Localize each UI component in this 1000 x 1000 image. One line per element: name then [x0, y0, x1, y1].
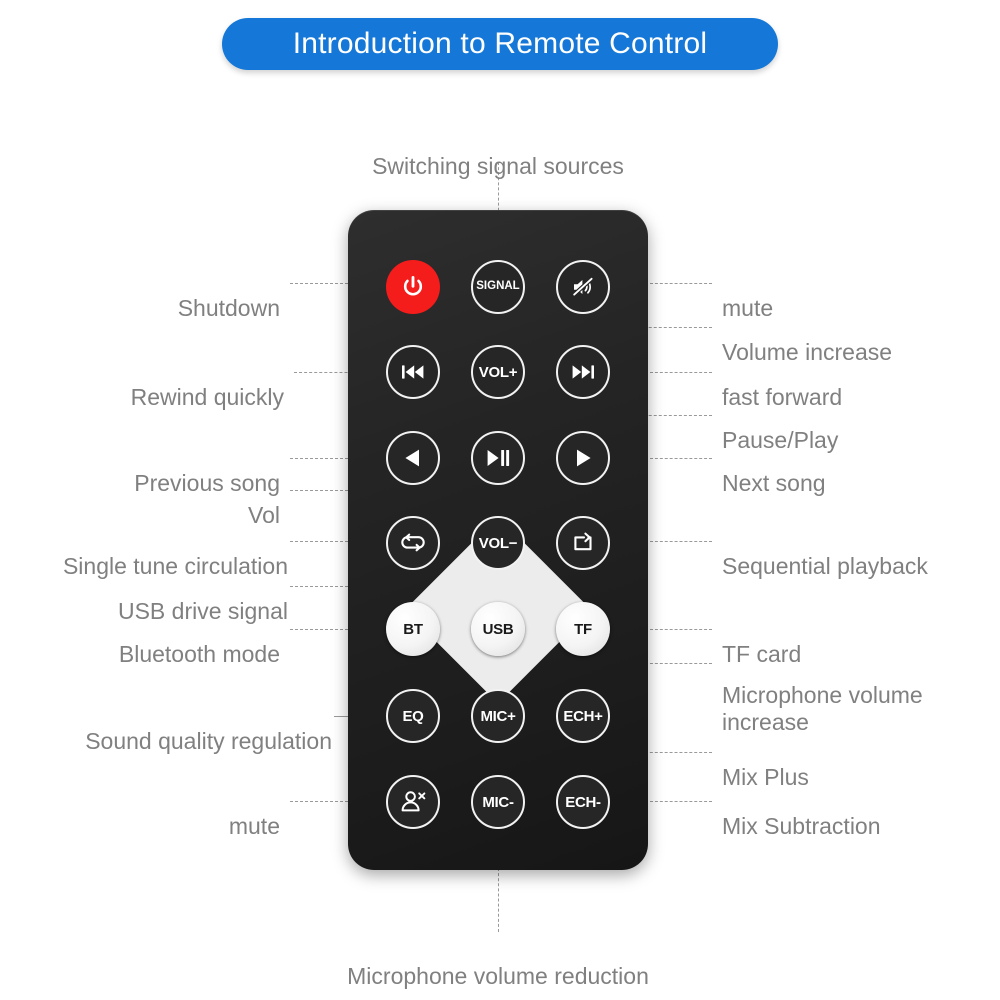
callout-text: Shutdown	[178, 295, 280, 321]
play-pause-button[interactable]	[471, 431, 525, 485]
callout-next-song: Next song	[722, 443, 998, 497]
callout-sound-quality-regulation: Sound quality regulation	[0, 701, 332, 755]
callout-text: Microphone volume reduction	[347, 963, 649, 989]
callout-microphone-volume-reduction: Microphone volume reduction	[288, 936, 708, 990]
bluetooth-mode-button[interactable]: BT	[386, 602, 440, 656]
volume-up-button[interactable]: VOL+	[471, 345, 525, 399]
page-title: Introduction to Remote Control	[293, 27, 708, 61]
callout-vol: Vol	[0, 475, 280, 529]
play-pause-icon	[485, 448, 511, 468]
callout-text: Microphone volume increase	[722, 682, 923, 735]
fast-forward-icon	[570, 363, 596, 381]
callout-mix-plus: Mix Plus	[722, 737, 998, 791]
page-title-banner: Introduction to Remote Control	[222, 18, 778, 70]
mic-down-label: MIC-	[482, 795, 513, 810]
mic-up-button[interactable]: MIC+	[471, 689, 525, 743]
callout-text: Next song	[722, 470, 826, 496]
echo-down-label: ECH-	[565, 795, 600, 810]
mic-down-button[interactable]: MIC-	[471, 775, 525, 829]
next-song-button[interactable]	[556, 431, 610, 485]
echo-up-button[interactable]: ECH+	[556, 689, 610, 743]
loop-repeat-icon	[399, 532, 427, 554]
person-mute-icon	[399, 789, 427, 815]
leader-line-next-song	[650, 458, 712, 459]
callout-microphone-volume-increase: Microphone volume increase	[722, 655, 984, 736]
callout-mix-subtraction: Mix Subtraction	[722, 786, 998, 840]
echo-up-label: ECH+	[563, 709, 602, 724]
callout-switching-signal-sources: Switching signal sources	[298, 126, 698, 180]
callout-shutdown: Shutdown	[0, 268, 280, 322]
rewind-icon	[400, 363, 426, 381]
sequential-playback-button[interactable]	[556, 516, 610, 570]
leader-line-mute	[650, 283, 712, 284]
callout-text: Rewind quickly	[131, 384, 284, 410]
leader-line-sequential-playback	[650, 541, 712, 542]
callout-text: Switching signal sources	[372, 153, 624, 179]
single-tune-circulation-button[interactable]	[386, 516, 440, 570]
fast-forward-button[interactable]	[556, 345, 610, 399]
volume-down-button[interactable]: VOL−	[471, 516, 525, 570]
speaker-mute-icon	[569, 273, 597, 301]
mic-mute-button[interactable]	[386, 775, 440, 829]
mic-up-label: MIC+	[480, 709, 515, 724]
callout-text: Sound quality regulation	[85, 728, 332, 754]
bt-button-label: BT	[403, 622, 422, 637]
tf-card-button[interactable]: TF	[556, 602, 610, 656]
callout-text: Bluetooth mode	[119, 641, 280, 667]
next-track-icon	[572, 447, 594, 469]
previous-song-button[interactable]	[386, 431, 440, 485]
leader-line-mix-plus	[640, 752, 712, 753]
callout-rewind-quickly: Rewind quickly	[0, 357, 284, 411]
callout-text: Mix Subtraction	[722, 813, 881, 839]
rewind-button[interactable]	[386, 345, 440, 399]
power-icon	[400, 274, 426, 300]
callout-sequential-playback: Sequential playback	[722, 526, 1000, 580]
callout-text: mute	[229, 813, 280, 839]
leader-line-tf-card	[650, 629, 712, 630]
power-button[interactable]	[386, 260, 440, 314]
usb-button[interactable]: USB	[471, 602, 525, 656]
signal-button[interactable]: SIGNAL	[471, 260, 525, 314]
eq-button[interactable]: EQ	[386, 689, 440, 743]
tf-button-label: TF	[574, 622, 592, 637]
callout-text: Vol	[248, 502, 280, 528]
usb-button-label: USB	[483, 622, 514, 637]
sequential-play-icon	[570, 531, 596, 555]
eq-button-label: EQ	[402, 709, 423, 724]
signal-button-label: SIGNAL	[476, 281, 519, 293]
leader-line-fast-forward	[650, 372, 712, 373]
remote-control-device: SIGNAL VOL+	[348, 210, 648, 870]
previous-track-icon	[402, 447, 424, 469]
echo-down-button[interactable]: ECH-	[556, 775, 610, 829]
callout-text: Sequential playback	[722, 553, 928, 579]
mute-button[interactable]	[556, 260, 610, 314]
callout-bluetooth-mode: Bluetooth mode	[0, 614, 280, 668]
leader-line-mix-subtraction	[650, 801, 712, 802]
volume-down-label: VOL−	[479, 536, 517, 551]
volume-up-label: VOL+	[479, 365, 517, 380]
callout-mute-microphone: mute	[0, 786, 280, 840]
